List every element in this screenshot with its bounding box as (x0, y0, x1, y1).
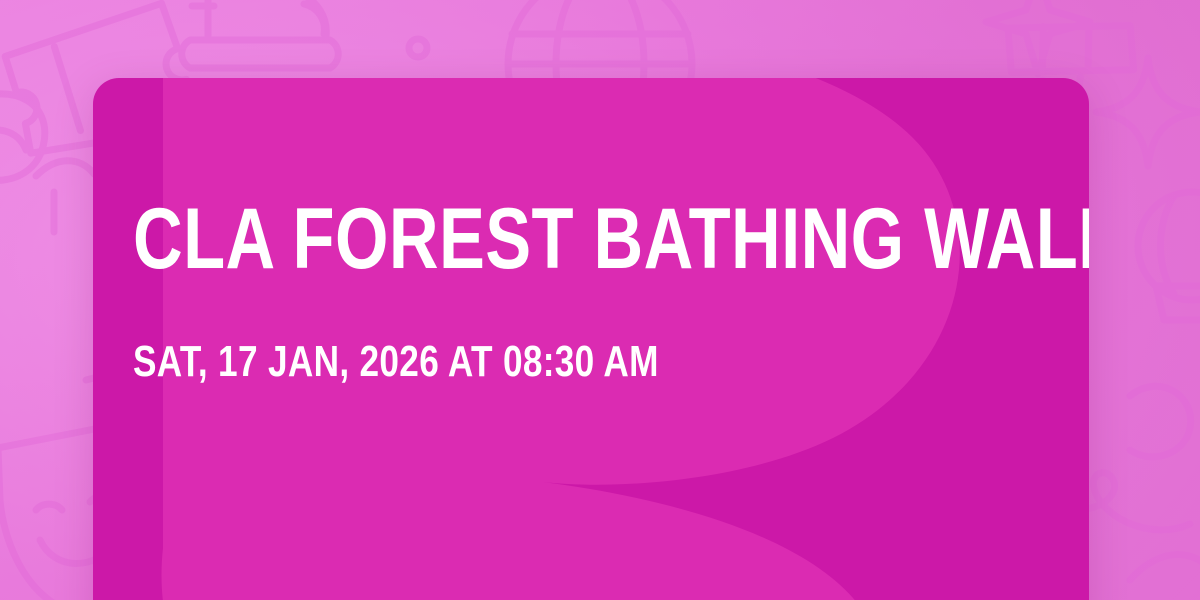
card-content: CLA FOREST BATHING WALK SAT, 17 JAN, 202… (133, 78, 1049, 600)
swirl-icon (1130, 386, 1191, 457)
circle-icon (409, 39, 427, 57)
event-datetime: SAT, 17 JAN, 2026 AT 08:30 AM (133, 342, 659, 382)
swirl-icon (1130, 554, 1200, 580)
ship-icon (182, 0, 339, 68)
balloon-icon (1138, 192, 1200, 320)
page-title: CLA FOREST BATHING WALK (133, 204, 1089, 275)
event-card: CLA FOREST BATHING WALK SAT, 17 JAN, 202… (93, 78, 1089, 600)
swirl-icon (36, 161, 94, 176)
star-icon (986, 0, 1090, 74)
event-banner: CLA FOREST BATHING WALK SAT, 17 JAN, 202… (0, 0, 1200, 600)
swirl-icon (0, 94, 45, 180)
sparkle-icon (1096, 58, 1200, 166)
